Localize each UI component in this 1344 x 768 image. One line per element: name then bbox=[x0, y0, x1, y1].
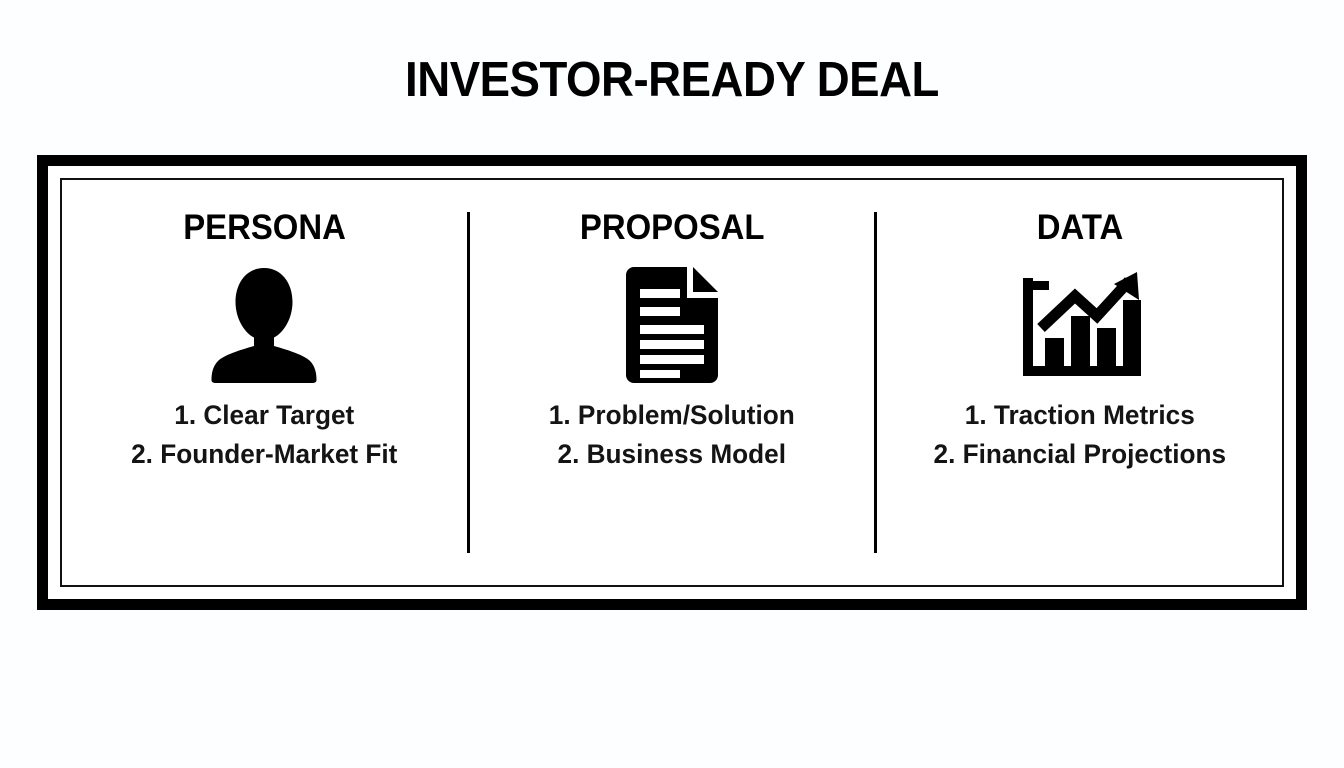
list-persona: 1. Clear Target 2. Founder-Market Fit bbox=[127, 396, 402, 474]
list-item: 1. Clear Target bbox=[131, 396, 397, 435]
list-item: 2. Financial Projections bbox=[933, 435, 1226, 474]
column-heading-persona: PERSONA bbox=[183, 208, 346, 248]
list-item: 1. Traction Metrics bbox=[933, 396, 1226, 435]
content-frame: PERSONA 1. Clear Target 2. Founder-Marke… bbox=[37, 155, 1307, 610]
list-data: 1. Traction Metrics 2. Financial Project… bbox=[929, 396, 1231, 474]
column-heading-proposal: PROPOSAL bbox=[580, 208, 765, 248]
list-item: 2. Business Model bbox=[549, 435, 795, 474]
content-frame-inner: PERSONA 1. Clear Target 2. Founder-Marke… bbox=[60, 178, 1284, 587]
bar-chart-growth-icon bbox=[1017, 264, 1143, 386]
column-heading-data: DATA bbox=[1036, 208, 1122, 248]
list-proposal: 1. Problem/Solution 2. Business Model bbox=[545, 396, 799, 474]
column-data: DATA bbox=[877, 180, 1282, 585]
document-icon bbox=[626, 264, 718, 386]
page-title: INVESTOR-READY DEAL bbox=[47, 52, 1297, 108]
person-silhouette-icon bbox=[210, 264, 318, 386]
column-proposal: PROPOSAL bbox=[470, 180, 875, 585]
column-persona: PERSONA 1. Clear Target 2. Founder-Marke… bbox=[62, 180, 467, 585]
list-item: 1. Problem/Solution bbox=[549, 396, 795, 435]
columns-container: PERSONA 1. Clear Target 2. Founder-Marke… bbox=[62, 180, 1282, 585]
list-item: 2. Founder-Market Fit bbox=[131, 435, 397, 474]
slide-canvas: INVESTOR-READY DEAL PERSONA 1. Clear Tar… bbox=[0, 0, 1344, 768]
